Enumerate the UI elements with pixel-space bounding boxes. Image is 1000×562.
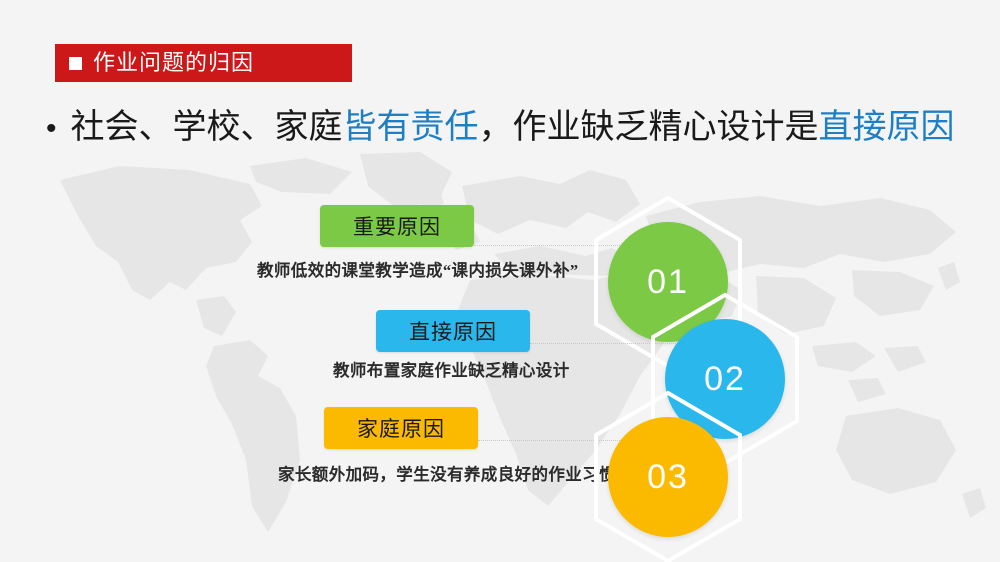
number-circle-3[interactable]: 03 [608, 417, 728, 537]
label-box-1-text: 重要原因 [353, 211, 441, 241]
caption-3-text: 家长额外加码，学生没有养成良好的作业习惯 [278, 465, 616, 484]
label-box-3-text: 家庭原因 [357, 413, 445, 443]
label-box-2[interactable]: 直接原因 [376, 310, 530, 352]
heading-text: 社会、学校、家庭皆有责任，作业缺乏精心设计是直接原因 [71, 108, 955, 147]
section-title-text: 作业问题的归因 [93, 52, 254, 74]
caption-3: 家长额外加码，学生没有养成良好的作业习惯 [278, 461, 616, 485]
heading-segment-3: ，作业缺乏精心设计是 [479, 108, 819, 146]
number-circle-3-text: 03 [647, 458, 689, 497]
heading-segment-4-highlight: 直接原因 [819, 108, 955, 146]
heading-bullet-icon: • [46, 114, 57, 144]
main-heading: • 社会、学校、家庭皆有责任，作业缺乏精心设计是直接原因 [46, 108, 976, 147]
hex-badge-3[interactable]: 03 [588, 389, 748, 562]
slide-canvas: 作业问题的归因 • 社会、学校、家庭皆有责任，作业缺乏精心设计是直接原因 重要原… [0, 0, 1000, 562]
square-bullet-icon [69, 57, 82, 70]
heading-segment-1: 社会、学校、家庭 [71, 108, 343, 146]
label-box-3[interactable]: 家庭原因 [324, 407, 478, 449]
caption-2-text: 教师布置家庭作业缺乏精心设计 [333, 361, 570, 380]
caption-1: 教师低效的课堂教学造成“课内损失课外补” [257, 257, 579, 281]
caption-1-text: 教师低效的课堂教学造成“课内损失课外补” [257, 261, 579, 280]
caption-2: 教师布置家庭作业缺乏精心设计 [333, 357, 570, 381]
section-title-banner: 作业问题的归因 [55, 44, 352, 82]
label-box-2-text: 直接原因 [409, 316, 497, 346]
label-box-1[interactable]: 重要原因 [320, 205, 474, 247]
heading-segment-2-highlight: 皆有责任 [343, 108, 479, 146]
world-map-watermark [0, 150, 1000, 562]
